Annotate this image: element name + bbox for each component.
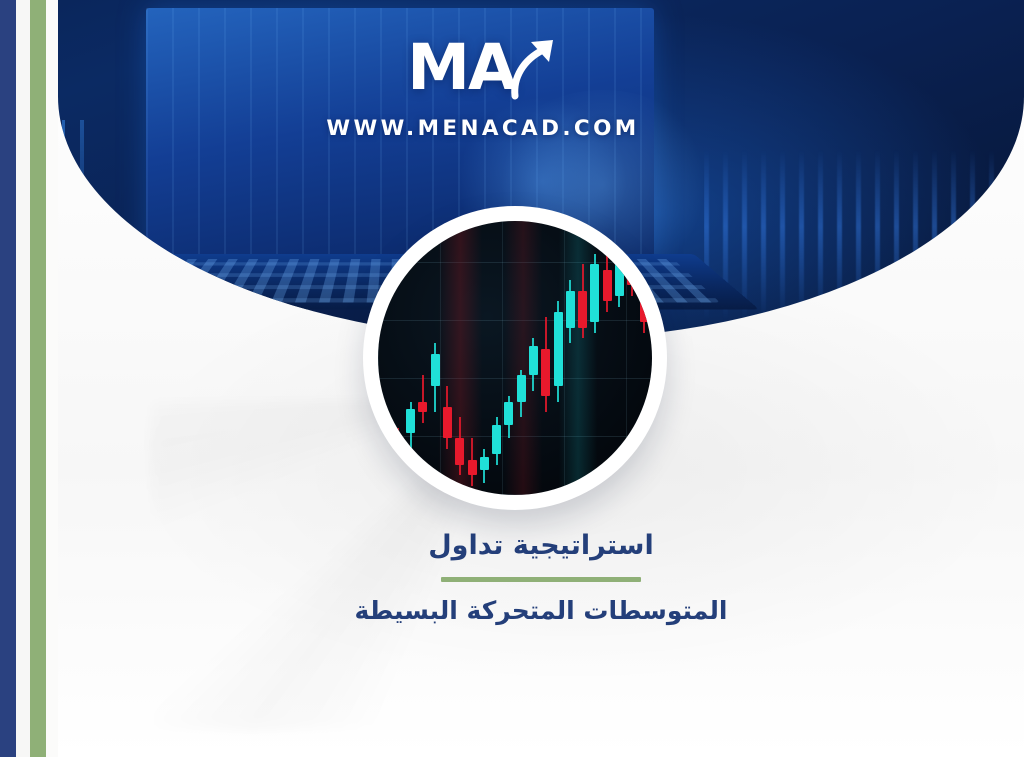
candlestick-body (541, 349, 550, 397)
candlestick (406, 402, 415, 450)
up-arrow-swoosh-icon (509, 38, 559, 102)
candlestick-body (578, 291, 587, 328)
website-url[interactable]: WWW.MENACAD.COM (326, 116, 639, 141)
candlestick-body (418, 402, 427, 413)
candlestick-body (603, 270, 612, 302)
candlestick-body (554, 312, 563, 386)
candlestick (554, 301, 563, 401)
candlestick (455, 417, 464, 475)
candlestick-body (468, 460, 477, 476)
page-subtitle: المتوسطات المتحركة البسيطة (355, 594, 728, 628)
candlestick-body (566, 291, 575, 328)
candlestick-body (406, 409, 415, 433)
candlestick-body (480, 457, 489, 470)
candlestick-body (529, 346, 538, 375)
candlestick (431, 343, 440, 412)
candlestick (443, 386, 452, 449)
candlestick (480, 449, 489, 483)
candlestick-body (504, 402, 513, 426)
title-block: استراتيجية تداول المتوسطات المتحركة البس… (58, 528, 1024, 628)
candlestick (590, 254, 599, 333)
poster-canvas: MA WWW.MENACAD.COM استراتيجية تداول المت… (0, 0, 1024, 757)
title-divider (441, 577, 641, 582)
candlestick-body (627, 248, 636, 285)
candlestick-body (455, 438, 464, 464)
candlestick-chart-area (378, 221, 652, 495)
candlestick-body (492, 425, 501, 454)
candlestick (468, 438, 477, 486)
candlestick-body (431, 354, 440, 386)
candlestick (529, 338, 538, 391)
candlestick (492, 417, 501, 465)
candlestick-body (443, 407, 452, 439)
candlestick (504, 396, 513, 438)
candlestick (418, 375, 427, 423)
candlestick (603, 238, 612, 312)
candlestick (627, 230, 636, 296)
candlestick (394, 428, 403, 481)
candlestick (615, 233, 624, 307)
candlestick (578, 264, 587, 338)
candlestick (517, 370, 526, 418)
brand-logo-block: MA WWW.MENACAD.COM (0, 0, 966, 200)
candlestick-body (394, 454, 403, 465)
candlestick-chart-badge (363, 206, 667, 510)
logo-mark: MA (407, 38, 558, 102)
candlestick (541, 317, 550, 412)
candlestick-body (615, 243, 624, 296)
candlestick-body (640, 280, 649, 322)
candlestick-body (590, 264, 599, 322)
candlestick (566, 280, 575, 343)
candlestick-wick (422, 375, 424, 423)
candlestick-body (517, 375, 526, 401)
page-title: استراتيجية تداول (428, 528, 654, 564)
candlestick (640, 241, 649, 333)
logo-wordmark: MA (407, 38, 514, 98)
candlestick-body (382, 423, 391, 439)
candlestick (382, 412, 391, 460)
